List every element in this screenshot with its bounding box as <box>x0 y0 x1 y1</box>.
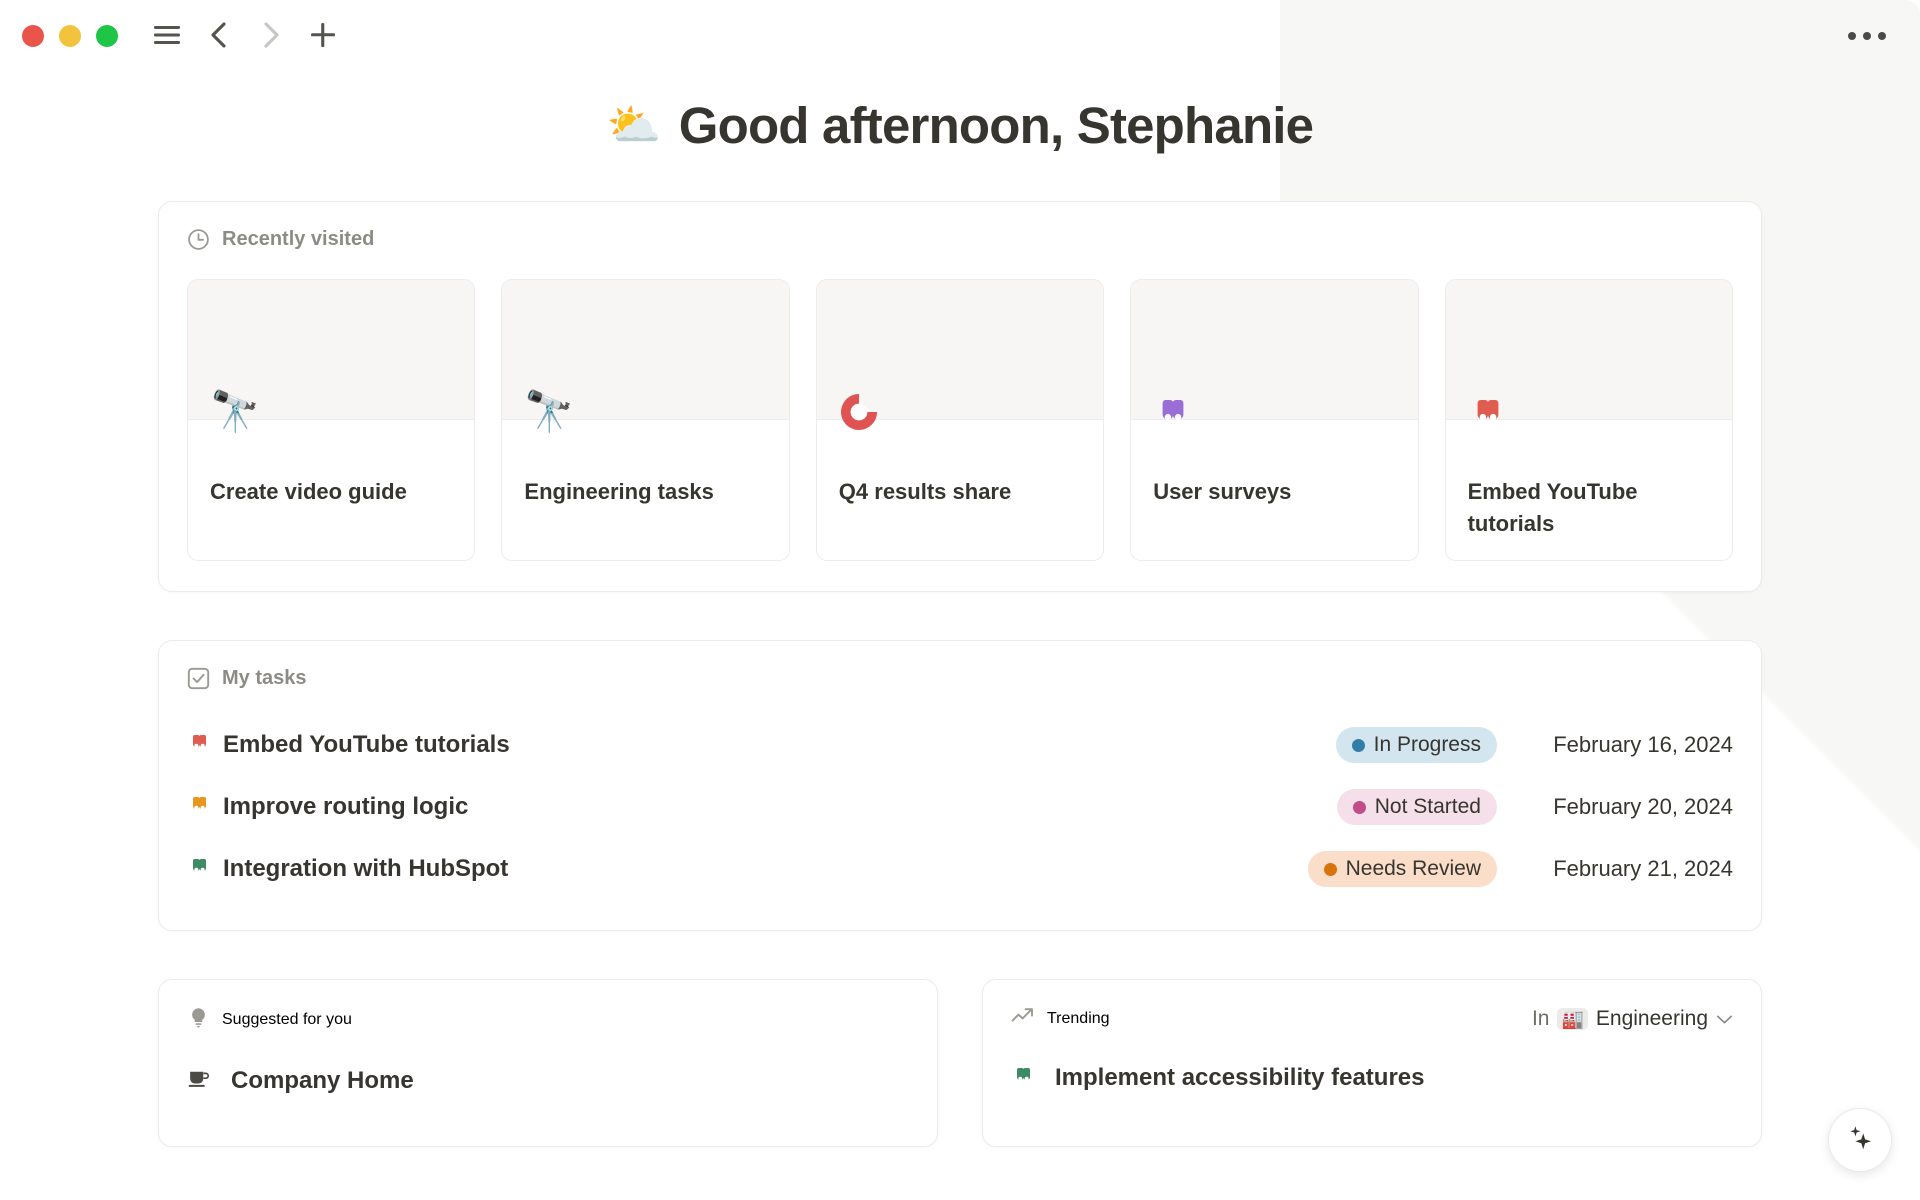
task-row[interactable]: Integration with HubSpot Needs Review Fe… <box>187 838 1733 900</box>
binoculars-red-icon <box>1468 392 1508 439</box>
status-dot <box>1353 801 1366 814</box>
status-label: In Progress <box>1374 733 1481 757</box>
card-body: Embed YouTube tutorials <box>1446 476 1732 540</box>
app-window: ⛅ Good afternoon, Stephanie Recently vis… <box>0 0 1920 1200</box>
recent-card-title: Create video guide <box>210 476 452 508</box>
recently-visited-header: Recently visited <box>187 228 1733 251</box>
list-item[interactable]: Company Home <box>187 1066 909 1095</box>
task-row[interactable]: Improve routing logic Not Started Februa… <box>187 776 1733 838</box>
clock-icon <box>187 228 210 251</box>
trending-up-icon <box>1011 1006 1035 1031</box>
more-options-button[interactable] <box>1840 22 1894 50</box>
task-due-date: February 21, 2024 <box>1497 856 1733 882</box>
bottom-panels-row: Suggested for you Company Home <box>158 979 1762 1187</box>
task-title: Improve routing logic <box>223 793 1337 821</box>
task-list: Embed YouTube tutorials In Progress Febr… <box>187 714 1733 900</box>
binoculars-red-icon <box>187 730 223 760</box>
task-due-date: February 16, 2024 <box>1497 732 1733 758</box>
checkbox-icon <box>187 667 210 690</box>
greeting-text: Good afternoon, Stephanie <box>679 96 1314 155</box>
suggested-for-you-panel: Suggested for you Company Home <box>158 979 938 1147</box>
trending-header: Trending In 🏭 Engineering <box>1011 1006 1733 1031</box>
zoom-window-button[interactable] <box>96 25 118 47</box>
recent-card[interactable]: Embed YouTube tutorials <box>1445 279 1733 561</box>
recent-card-title: Embed YouTube tutorials <box>1468 476 1710 540</box>
minimize-window-button[interactable] <box>59 25 81 47</box>
ai-assistant-button[interactable] <box>1828 1108 1892 1172</box>
list-item-label: Company Home <box>231 1067 414 1095</box>
binoculars-purple-icon <box>1153 392 1193 439</box>
page-title: ⛅ Good afternoon, Stephanie <box>0 96 1920 155</box>
recently-visited-grid: 🔭 Create video guide 🔭 Engineering tasks <box>187 279 1733 561</box>
hamburger-icon <box>154 25 180 48</box>
task-title: Embed YouTube tutorials <box>223 731 1336 759</box>
more-dot-1 <box>1848 32 1856 40</box>
scope-prefix: In <box>1532 1007 1550 1031</box>
binoculars-green-icon: 🔭 <box>210 392 260 432</box>
forward-button[interactable] <box>248 13 294 59</box>
my-tasks-title: My tasks <box>222 667 307 690</box>
back-button[interactable] <box>196 13 242 59</box>
recent-card-title: Engineering tasks <box>524 476 766 508</box>
card-body: Create video guide <box>188 476 474 508</box>
binoculars-green-icon <box>1011 1063 1041 1093</box>
new-page-button[interactable] <box>300 13 346 59</box>
pie-chart-red-icon <box>839 392 879 439</box>
chevron-right-icon <box>260 21 282 52</box>
task-due-date: February 20, 2024 <box>1497 794 1733 820</box>
card-body: User surveys <box>1131 476 1417 508</box>
card-body: Engineering tasks <box>502 476 788 508</box>
recently-visited-panel: Recently visited 🔭 Create video guide 🔭 … <box>158 201 1762 592</box>
trending-panel: Trending In 🏭 Engineering <box>982 979 1762 1147</box>
coffee-cup-icon <box>187 1066 217 1095</box>
chevron-left-icon <box>208 21 230 52</box>
factory-icon: 🏭 <box>1557 1008 1587 1030</box>
status-label: Not Started <box>1375 795 1481 819</box>
list-item[interactable]: Implement accessibility features <box>1011 1063 1733 1093</box>
sidebar-toggle-button[interactable] <box>144 13 190 59</box>
status-dot <box>1324 863 1337 876</box>
recently-visited-title: Recently visited <box>222 228 374 251</box>
recent-card[interactable]: 🔭 Engineering tasks <box>501 279 789 561</box>
list-item-label: Implement accessibility features <box>1055 1064 1425 1092</box>
recent-card[interactable]: User surveys <box>1130 279 1418 561</box>
status-badge[interactable]: Not Started <box>1337 789 1497 825</box>
sparkles-icon <box>1845 1123 1875 1158</box>
status-badge[interactable]: Needs Review <box>1308 851 1497 887</box>
lightbulb-icon <box>187 1006 210 1034</box>
scope-name: Engineering <box>1596 1007 1708 1031</box>
recent-card[interactable]: 🔭 Create video guide <box>187 279 475 561</box>
my-tasks-panel: My tasks Embed YouTube tutorials <box>158 640 1762 931</box>
more-dot-2 <box>1863 32 1871 40</box>
close-window-button[interactable] <box>22 25 44 47</box>
recent-card-title: User surveys <box>1153 476 1395 508</box>
binoculars-orange-icon <box>187 792 223 822</box>
my-tasks-header: My tasks <box>187 667 1733 690</box>
page-content: Recently visited 🔭 Create video guide 🔭 … <box>0 155 1920 1187</box>
task-title: Integration with HubSpot <box>223 855 1308 883</box>
plus-icon <box>310 22 336 51</box>
status-badge[interactable]: In Progress <box>1336 727 1497 763</box>
nav-button-group <box>144 13 346 59</box>
chevron-down-icon <box>1716 1007 1733 1031</box>
trending-title: Trending <box>1047 1010 1110 1028</box>
status-dot <box>1352 739 1365 752</box>
window-controls <box>22 25 118 47</box>
status-label: Needs Review <box>1346 857 1481 881</box>
title-bar <box>0 0 1920 72</box>
sun-behind-cloud-icon: ⛅ <box>607 104 661 148</box>
card-body: Q4 results share <box>817 476 1103 508</box>
binoculars-green-icon <box>187 854 223 884</box>
task-row[interactable]: Embed YouTube tutorials In Progress Febr… <box>187 714 1733 776</box>
recent-card-title: Q4 results share <box>839 476 1081 508</box>
binoculars-green-icon: 🔭 <box>524 392 574 432</box>
suggested-title: Suggested for you <box>222 1011 352 1029</box>
trending-scope-selector[interactable]: In 🏭 Engineering <box>1532 1007 1733 1031</box>
more-dot-3 <box>1878 32 1886 40</box>
recent-card[interactable]: Q4 results share <box>816 279 1104 561</box>
suggested-header: Suggested for you <box>187 1006 909 1034</box>
